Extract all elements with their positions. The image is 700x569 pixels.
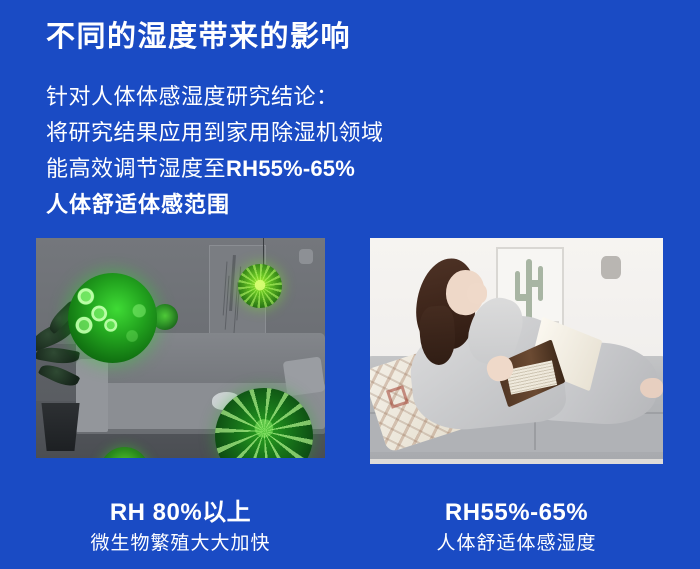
dim-sofa-arm bbox=[76, 359, 108, 432]
body-line-2: 将研究结果应用到家用除湿机领域 bbox=[46, 115, 384, 151]
humidity-range-highlight: RH55%-65% bbox=[226, 156, 355, 181]
woman-foot bbox=[640, 378, 663, 398]
cactus-stem bbox=[526, 259, 532, 324]
caption-title: RH 80%以上 bbox=[36, 498, 325, 528]
photo-comfort-humidity bbox=[370, 238, 663, 464]
caption-comfort-humidity: RH55%-65% 人体舒适体感湿度 bbox=[370, 498, 663, 558]
plant-leaf bbox=[38, 360, 81, 392]
body-line-1: 针对人体体感湿度研究结论： bbox=[46, 79, 384, 115]
body-line-4: 人体舒适体感范围 bbox=[46, 187, 384, 223]
photo-high-humidity bbox=[36, 238, 325, 458]
body-line-3: 能高效调节湿度至RH55%-65% bbox=[46, 151, 384, 187]
caption-title: RH55%-65% bbox=[370, 498, 663, 528]
body-copy: 针对人体体感湿度研究结论： 将研究结果应用到家用除湿机领域 能高效调节湿度至RH… bbox=[46, 79, 384, 223]
cactus-arm bbox=[528, 280, 543, 287]
microbe-orb-large bbox=[68, 273, 158, 363]
wall-knob-icon bbox=[601, 256, 620, 279]
woman-hand-at-head bbox=[467, 283, 488, 303]
caption-subtitle: 人体舒适体感湿度 bbox=[370, 530, 663, 558]
bright-room-scene bbox=[370, 238, 663, 464]
page-title: 不同的湿度带来的影响 bbox=[46, 18, 351, 56]
caption-subtitle: 微生物繁殖大大加快 bbox=[36, 530, 325, 558]
microbe-orb-bottom bbox=[215, 388, 313, 458]
body-line-3-prefix: 能高效调节湿度至 bbox=[46, 156, 226, 181]
dim-room-scene bbox=[36, 238, 325, 458]
wall-plug-icon bbox=[299, 249, 313, 264]
humidity-comparison-poster: 不同的湿度带来的影响 针对人体体感湿度研究结论： 将研究结果应用到家用除湿机领域… bbox=[0, 0, 700, 569]
microbe-orb-small bbox=[238, 264, 281, 308]
caption-high-humidity: RH 80%以上 微生物繁殖大大加快 bbox=[36, 498, 325, 558]
cactus-arm bbox=[515, 294, 532, 301]
